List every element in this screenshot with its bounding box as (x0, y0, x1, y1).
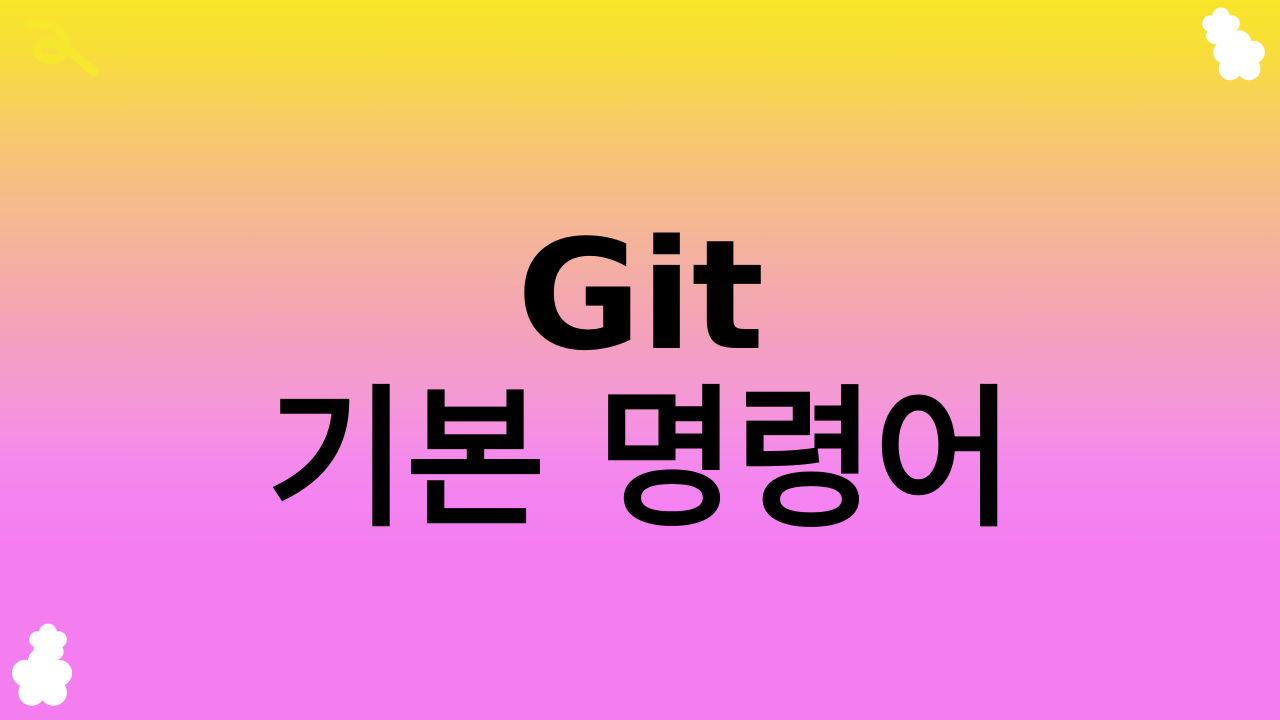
presentation-slide: Git 기본 명령어 (0, 0, 1280, 720)
slide-title: Git 기본 명령어 (267, 214, 1013, 542)
slide-title-block: Git 기본 명령어 (0, 0, 1280, 720)
